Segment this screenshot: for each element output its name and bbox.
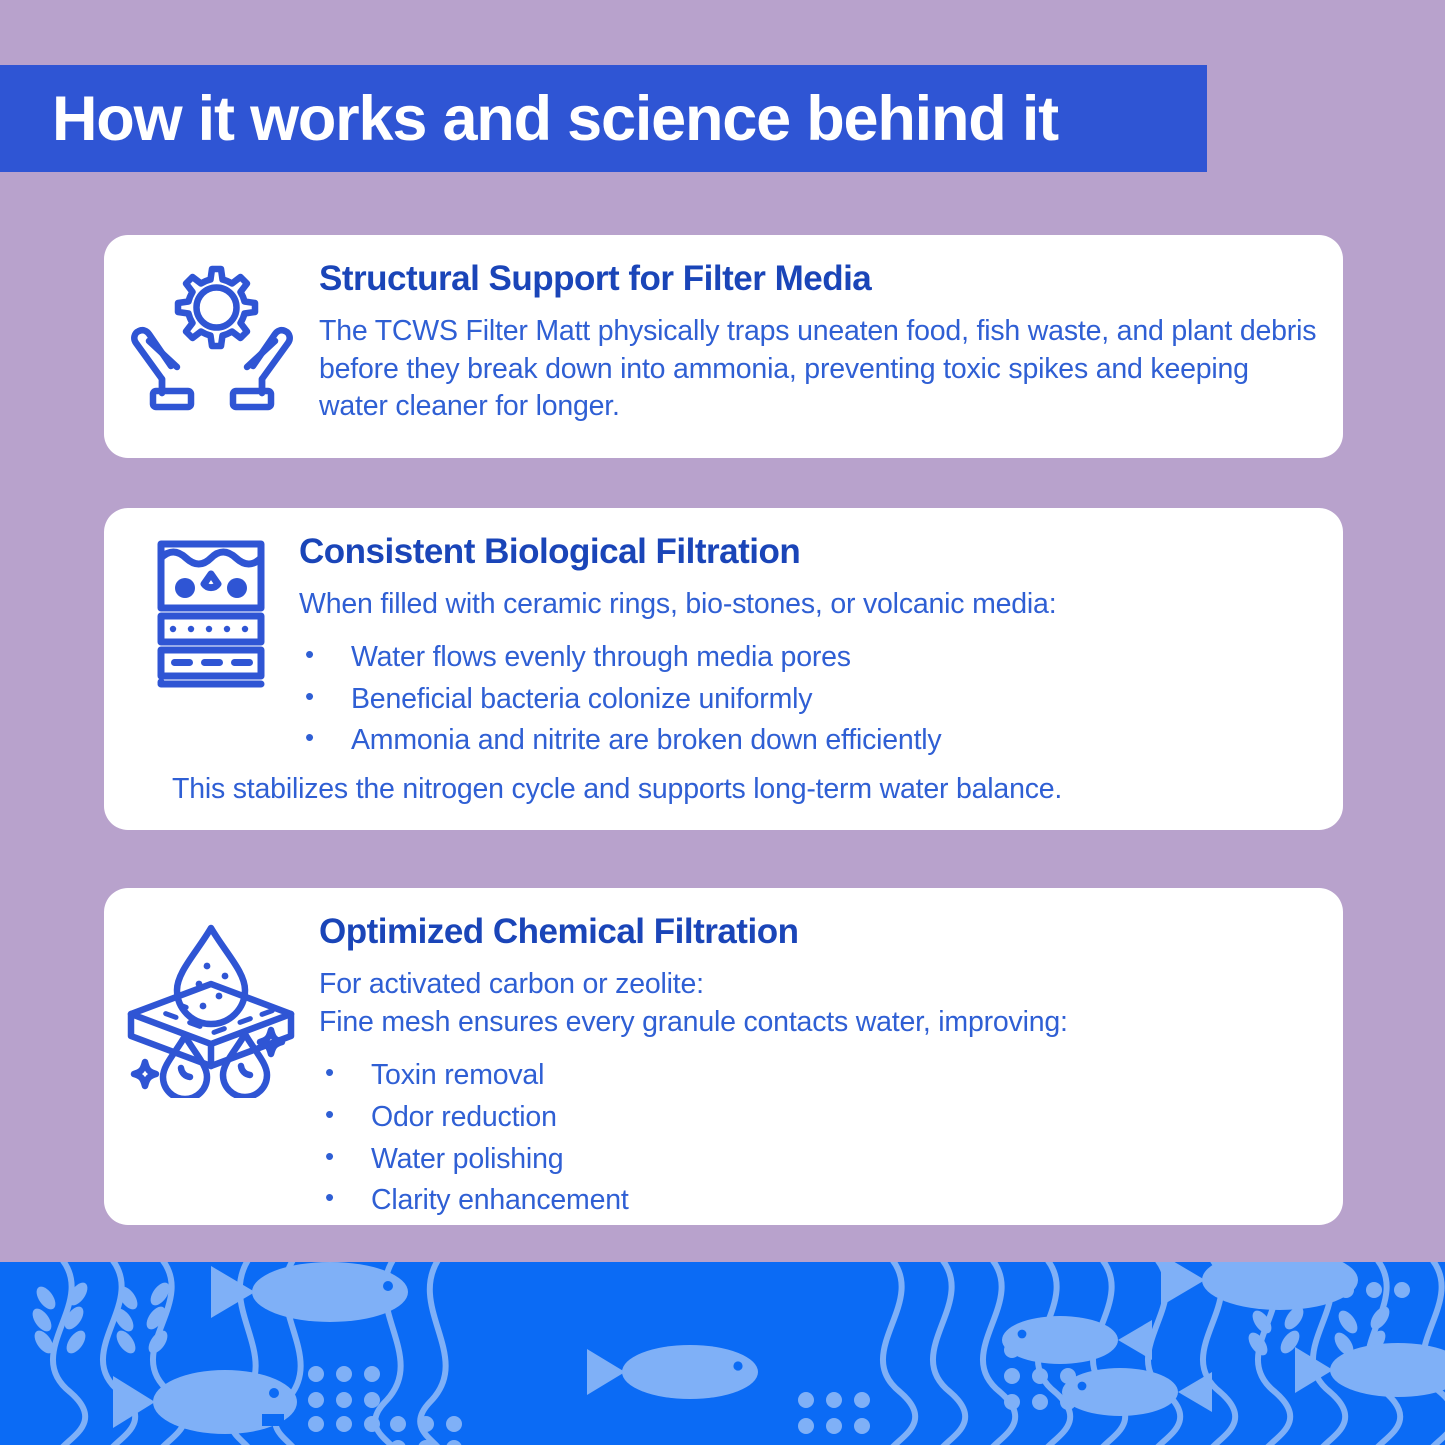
list-item: Odor reduction: [319, 1100, 1317, 1142]
card-body: Optimized Chemical Filtration For activa…: [319, 888, 1343, 1225]
card-body: Consistent Biological Filtration When fi…: [299, 508, 1343, 765]
card-bullet-list: Toxin removal Odor reduction Water polis…: [319, 1058, 1317, 1225]
card-icon-wrapper: [104, 508, 299, 695]
page-header-bar: How it works and science behind it: [0, 65, 1207, 172]
feature-card-chemical-filtration: Optimized Chemical Filtration For activa…: [104, 888, 1343, 1225]
card-heading: Consistent Biological Filtration: [299, 532, 1317, 572]
list-item: Water flows evenly through media pores: [299, 640, 1317, 682]
feature-card-structural-support: Structural Support for Filter Media The …: [104, 235, 1343, 458]
water-drop-mesh-filter-icon: [119, 918, 304, 1098]
card-paragraph: When filled with ceramic rings, bio-ston…: [299, 586, 1317, 624]
hands-holding-gear-icon: [127, 257, 297, 422]
underwater-decoration-band: [0, 1262, 1445, 1445]
feature-card-biological-filtration: Consistent Biological Filtration When fi…: [104, 508, 1343, 830]
list-item: Ammonia and nitrite are broken down effi…: [299, 723, 1317, 765]
list-item: Beneficial bacteria colonize uniformly: [299, 682, 1317, 724]
card-paragraph-line-2: Fine mesh ensures every granule contacts…: [319, 1004, 1317, 1042]
underwater-scene: [0, 1262, 1445, 1445]
fish-eye: [269, 1388, 279, 1398]
card-paragraph: The TCWS Filter Matt physically traps un…: [319, 313, 1317, 426]
card-heading: Optimized Chemical Filtration: [319, 912, 1317, 952]
card-bullet-list: Water flows evenly through media pores B…: [299, 640, 1317, 765]
card-icon-wrapper: [104, 235, 319, 422]
list-item: Water polishing: [319, 1142, 1317, 1184]
card-icon-wrapper: [104, 888, 319, 1098]
list-item: Toxin removal: [319, 1058, 1317, 1100]
card-body: Structural Support for Filter Media The …: [319, 235, 1343, 426]
page-title: How it works and science behind it: [0, 83, 1058, 155]
layered-filter-tank-icon: [147, 530, 297, 695]
card-paragraph-line-1: For activated carbon or zeolite:: [319, 966, 1317, 1004]
card-footnote: This stabilizes the nitrogen cycle and s…: [172, 773, 1062, 806]
list-item: Clarity enhancement: [319, 1183, 1317, 1225]
card-heading: Structural Support for Filter Media: [319, 259, 1317, 299]
